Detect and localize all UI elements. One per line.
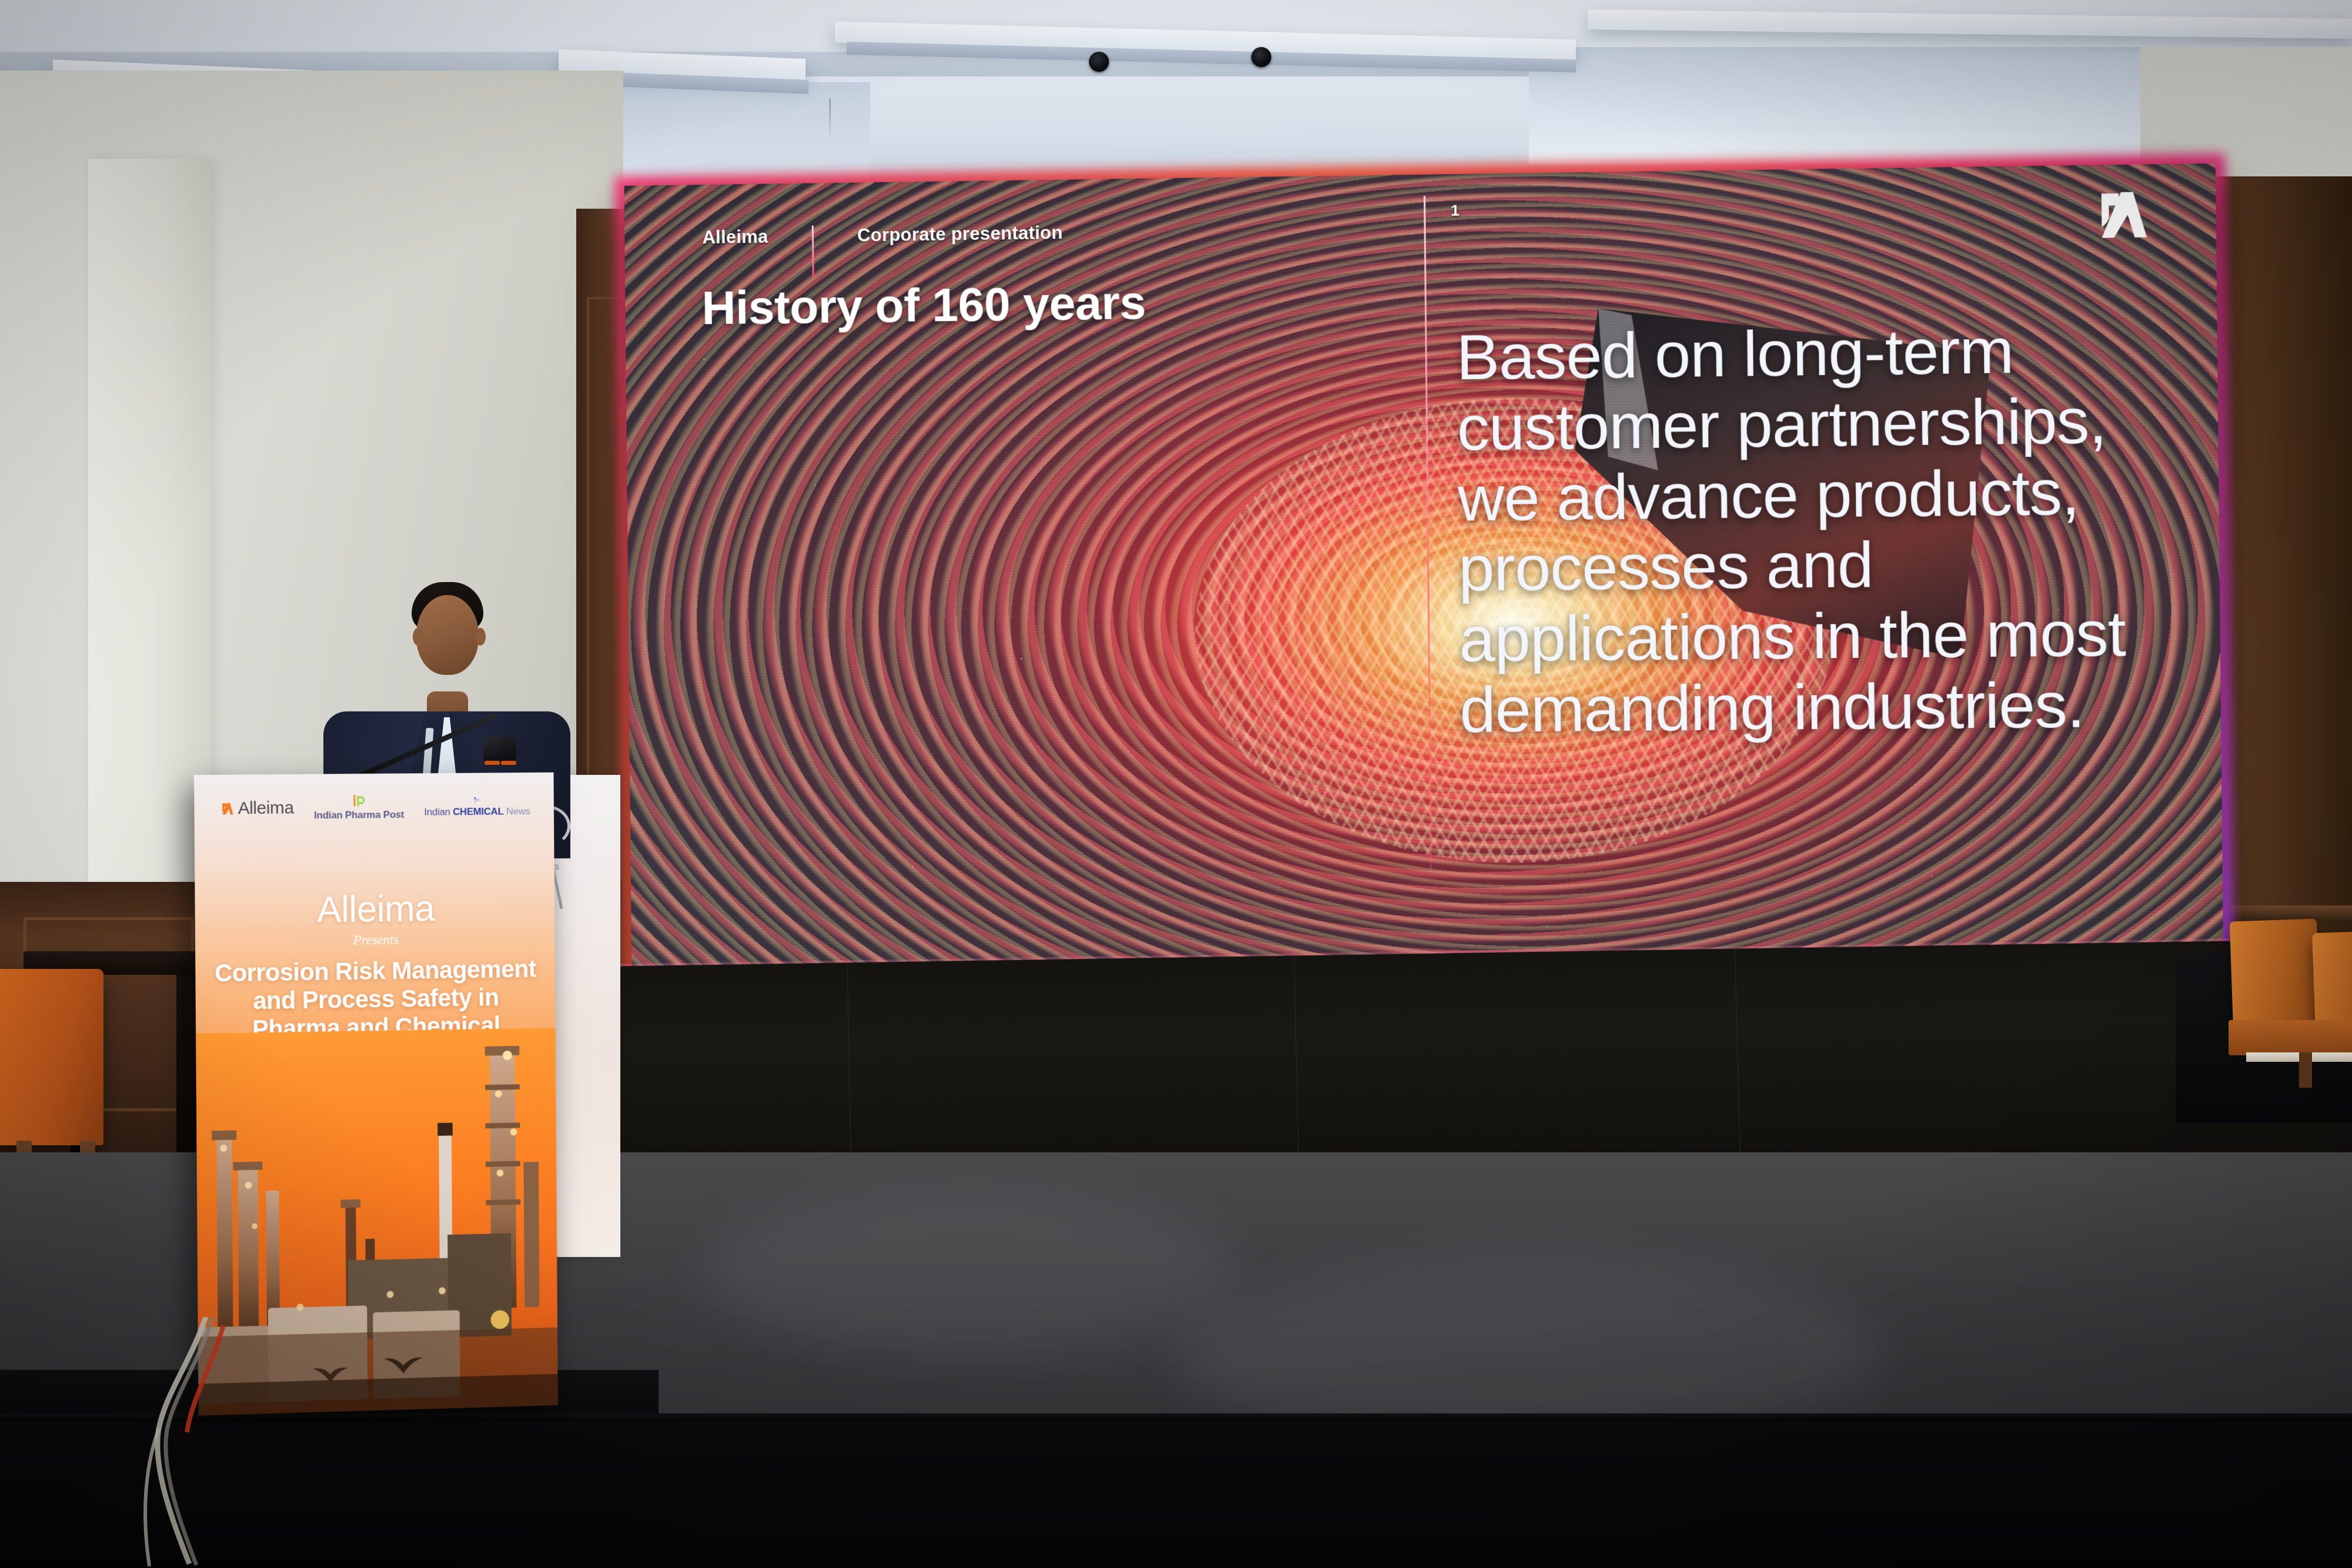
indian-pharma-post-logo-icon <box>350 794 368 808</box>
slide-subtitle-label: Corporate presentation <box>857 222 1063 246</box>
orange-armchair-left <box>0 969 103 1145</box>
slide-page-number: 1 <box>1451 201 1459 219</box>
speaker-head <box>416 595 479 675</box>
speaker-ear <box>475 628 486 646</box>
ceiling-spotlight-3 <box>1251 47 1271 67</box>
podium-brand-title: Alleima <box>195 886 554 932</box>
alleima-logo-icon <box>2083 187 2150 243</box>
skirt-seam <box>1294 955 1299 1179</box>
floor-light-sheen <box>706 1188 1235 1352</box>
podium-partner-logos: Alleima Indian Pharma Post Indian CHEMIC… <box>194 785 554 830</box>
partner-logo-alleima: Alleima <box>219 798 294 819</box>
skirt-seam <box>1734 949 1741 1173</box>
alleima-logo-icon <box>219 801 234 815</box>
presentation-slide: Alleima Corporate presentation 1 History… <box>624 163 2224 979</box>
microphone-band <box>485 761 500 765</box>
slide-header-divider <box>811 226 814 278</box>
armchair-seat <box>2229 1020 2352 1055</box>
indian-chemical-news-logo-icon <box>472 795 483 805</box>
wall-pillar <box>88 159 212 923</box>
console-table-leg <box>176 975 196 1178</box>
partner-logo-icn-label: Indian CHEMICAL News <box>424 805 530 818</box>
microphone-band <box>501 761 516 765</box>
armchair-leg <box>2299 1052 2312 1088</box>
partner-logo-ipp-label: Indian Pharma Post <box>314 809 404 821</box>
ceiling-spotlight-2 <box>1089 52 1109 72</box>
icn-word-3: News <box>503 805 530 817</box>
icn-word-1: Indian <box>424 806 453 817</box>
slide-header: Alleima Corporate presentation <box>702 207 1063 264</box>
ceiling-wire <box>829 99 831 141</box>
icn-word-2: CHEMICAL <box>453 806 503 818</box>
slide-quote: Based on long-term customer partnerships… <box>1456 313 2172 745</box>
microphone-icon <box>500 735 516 764</box>
slide-brand-label: Alleima <box>702 226 768 249</box>
led-video-wall: Alleima Corporate presentation 1 History… <box>624 163 2224 979</box>
orange-armchair-right-1 <box>2230 918 2321 1033</box>
partner-logo-alleima-label: Alleima <box>238 798 293 819</box>
speaker-ear <box>413 628 423 646</box>
partner-logo-indian-pharma-post: Indian Pharma Post <box>314 794 404 821</box>
conference-stage-scene: Alleima Corporate presentation 1 History… <box>0 0 2352 1568</box>
slide-title: History of 160 years <box>701 276 1146 336</box>
podium-cables <box>135 1317 429 1568</box>
orange-armchair-right-2 <box>2312 931 2352 1033</box>
partner-logo-indian-chemical-news: Indian CHEMICAL News <box>424 795 530 818</box>
